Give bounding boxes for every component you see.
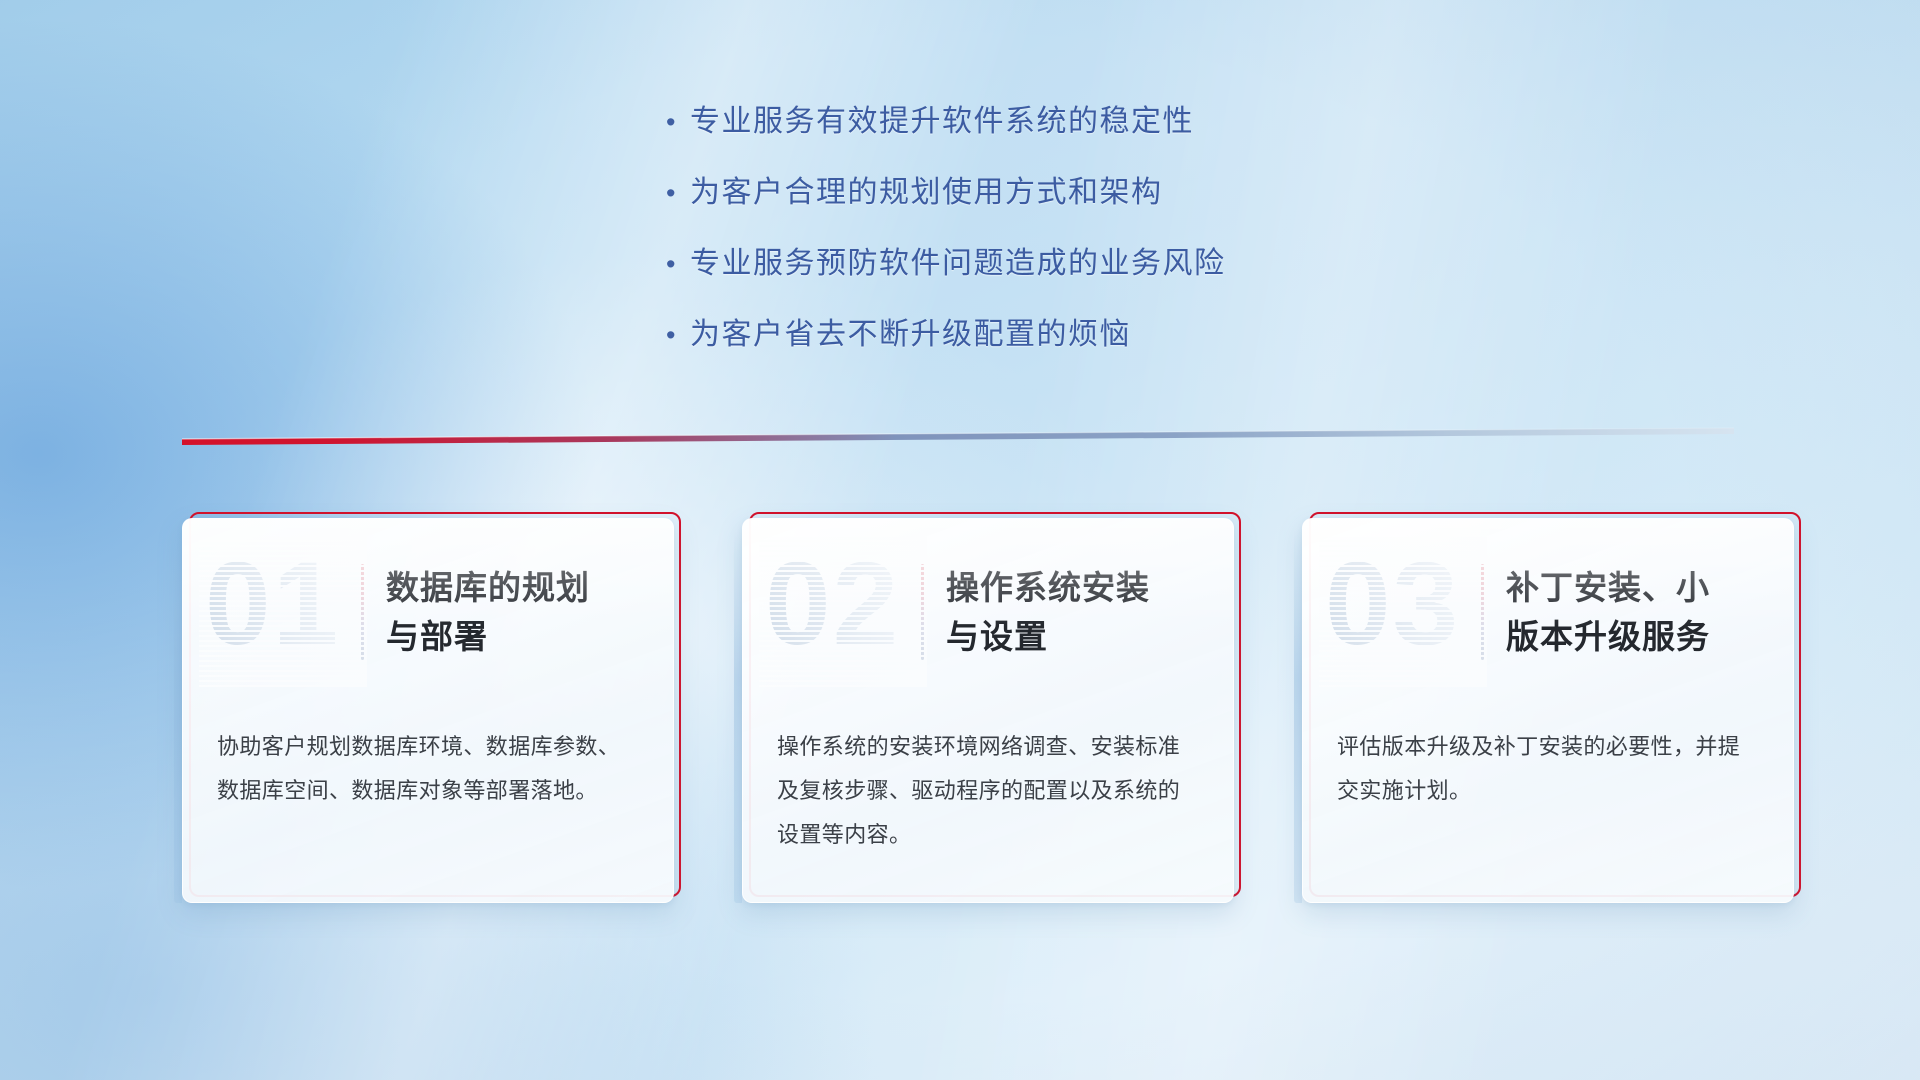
card-number-text: 03: [1325, 539, 1460, 669]
bullet-dot-icon: •: [660, 242, 690, 286]
card-header: 01 数据库的规划 与部署: [183, 519, 673, 704]
card-header: 02 操作系统安装 与设置: [743, 519, 1233, 704]
card-number-watermark: 03: [1325, 547, 1481, 677]
list-item: • 专业服务预防软件问题造成的业务风险: [660, 242, 1480, 286]
card-title: 补丁安装、小 版本升级服务: [1506, 563, 1710, 661]
card-header: 03 补丁安装、小 版本升级服务: [1303, 519, 1793, 704]
bullet-dot-icon: •: [660, 171, 690, 215]
bullet-text: 专业服务有效提升软件系统的稳定性: [690, 100, 1194, 144]
card-left-edge: [174, 528, 182, 903]
bullet-text: 为客户省去不断升级配置的烦恼: [690, 313, 1131, 357]
bullet-text: 为客户合理的规划使用方式和架构: [690, 171, 1163, 215]
service-card-02[interactable]: 02 操作系统安装 与设置 操作系统的安装环境网络调查、安装标准及复核步骤、驱动…: [742, 518, 1234, 903]
title-accent-rule: [1481, 564, 1484, 660]
section-divider: [182, 425, 1734, 447]
benefits-bullet-list: • 专业服务有效提升软件系统的稳定性 • 为客户合理的规划使用方式和架构 • 专…: [660, 100, 1480, 384]
service-card-row: 01 数据库的规划 与部署 协助客户规划数据库环境、数据库参数、数据库空间、数据…: [182, 518, 1794, 918]
card-number-watermark: 02: [765, 547, 921, 677]
card-panel: 02 操作系统安装 与设置 操作系统的安装环境网络调查、安装标准及复核步骤、驱动…: [742, 518, 1234, 903]
service-card-03[interactable]: 03 补丁安装、小 版本升级服务 评估版本升级及补丁安装的必要性，并提交实施计划…: [1302, 518, 1794, 903]
card-body-text: 操作系统的安装环境网络调查、安装标准及复核步骤、驱动程序的配置以及系统的设置等内…: [743, 705, 1233, 857]
card-title: 数据库的规划 与部署: [386, 563, 590, 661]
card-number-watermark: 01: [205, 547, 361, 677]
card-body-text: 协助客户规划数据库环境、数据库参数、数据库空间、数据库对象等部署落地。: [183, 705, 673, 813]
card-panel: 01 数据库的规划 与部署 协助客户规划数据库环境、数据库参数、数据库空间、数据…: [182, 518, 674, 903]
card-number-text: 02: [765, 539, 900, 669]
list-item: • 专业服务有效提升软件系统的稳定性: [660, 100, 1480, 144]
bullet-dot-icon: •: [660, 313, 690, 357]
card-left-edge: [1294, 528, 1302, 903]
card-number-text: 01: [205, 539, 340, 669]
card-left-edge: [734, 528, 742, 903]
bullet-dot-icon: •: [660, 100, 690, 144]
bullet-text: 专业服务预防软件问题造成的业务风险: [690, 242, 1226, 286]
list-item: • 为客户合理的规划使用方式和架构: [660, 171, 1480, 215]
title-accent-rule: [921, 564, 924, 660]
title-accent-rule: [361, 564, 364, 660]
list-item: • 为客户省去不断升级配置的烦恼: [660, 313, 1480, 357]
card-title: 操作系统安装 与设置: [946, 563, 1150, 661]
service-card-01[interactable]: 01 数据库的规划 与部署 协助客户规划数据库环境、数据库参数、数据库空间、数据…: [182, 518, 674, 903]
card-body-text: 评估版本升级及补丁安装的必要性，并提交实施计划。: [1303, 705, 1793, 813]
card-panel: 03 补丁安装、小 版本升级服务 评估版本升级及补丁安装的必要性，并提交实施计划…: [1302, 518, 1794, 903]
